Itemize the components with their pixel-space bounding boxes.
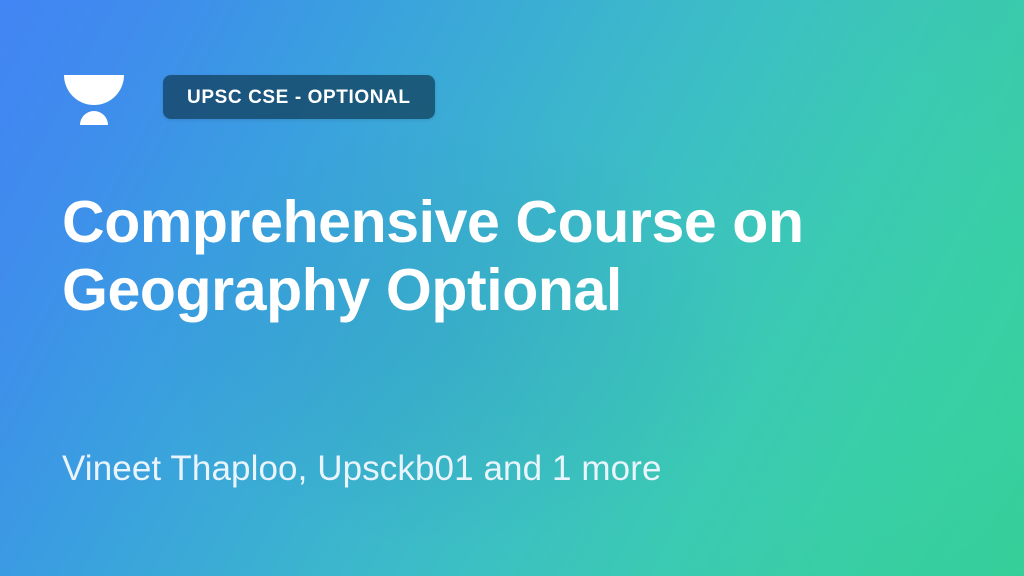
- course-cover-card: UPSC CSE - OPTIONAL Comprehensive Course…: [0, 0, 1024, 576]
- course-title: Comprehensive Course on Geography Option…: [62, 188, 942, 324]
- course-title-line-2: Geography Optional: [62, 256, 942, 324]
- educators-line[interactable]: Vineet Thaploo, Upsckb01 and 1 more: [62, 447, 662, 491]
- course-title-line-1: Comprehensive Course on: [62, 188, 942, 256]
- category-badge-label: UPSC CSE - OPTIONAL: [187, 88, 411, 107]
- header-row: UPSC CSE - OPTIONAL: [62, 60, 435, 134]
- category-badge[interactable]: UPSC CSE - OPTIONAL: [163, 75, 435, 119]
- unacademy-logo-icon: [62, 66, 126, 128]
